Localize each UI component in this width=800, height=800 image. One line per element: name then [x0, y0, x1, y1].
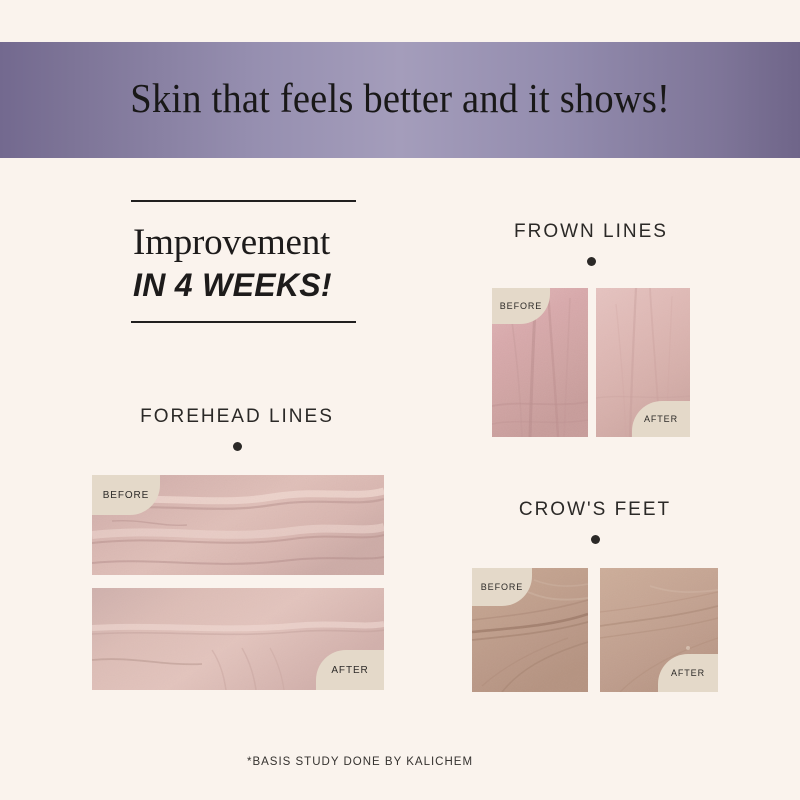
- photo-crows-feet-before: BEFORE: [472, 568, 588, 692]
- rule-bottom: [131, 321, 356, 323]
- bullet-dot-icon: [233, 442, 242, 451]
- section-title-forehead: FOREHEAD LINES: [91, 406, 383, 428]
- photo-frown-before: BEFORE: [492, 288, 588, 437]
- section-heading-forehead: FOREHEAD LINES: [91, 406, 383, 451]
- bullet-dot-icon: [591, 535, 600, 544]
- photo-frown-after: AFTER: [596, 288, 690, 437]
- improvement-subhead: IN 4 WEEKS!: [133, 269, 356, 301]
- header-banner: Skin that feels better and it shows!: [0, 42, 800, 158]
- improvement-headline: Improvement: [133, 224, 356, 261]
- section-title-crows-feet: CROW'S FEET: [472, 499, 718, 521]
- footer-disclaimer: *BASIS STUDY DONE BY KALICHEM: [0, 756, 800, 768]
- bullet-dot-icon: [587, 257, 596, 266]
- photo-forehead-before: BEFORE: [92, 475, 384, 575]
- section-heading-frown: FROWN LINES: [492, 221, 690, 266]
- rule-top: [131, 200, 356, 202]
- page-title: Skin that feels better and it shows!: [130, 78, 670, 123]
- section-title-frown: FROWN LINES: [492, 221, 690, 243]
- poster-canvas: Skin that feels better and it shows! Imp…: [0, 0, 800, 800]
- badge-after: AFTER: [316, 650, 384, 690]
- photo-crows-feet-after: AFTER: [600, 568, 718, 692]
- section-heading-crows-feet: CROW'S FEET: [472, 499, 718, 544]
- improvement-block: Improvement IN 4 WEEKS!: [131, 200, 356, 323]
- photo-forehead-after: AFTER: [92, 588, 384, 690]
